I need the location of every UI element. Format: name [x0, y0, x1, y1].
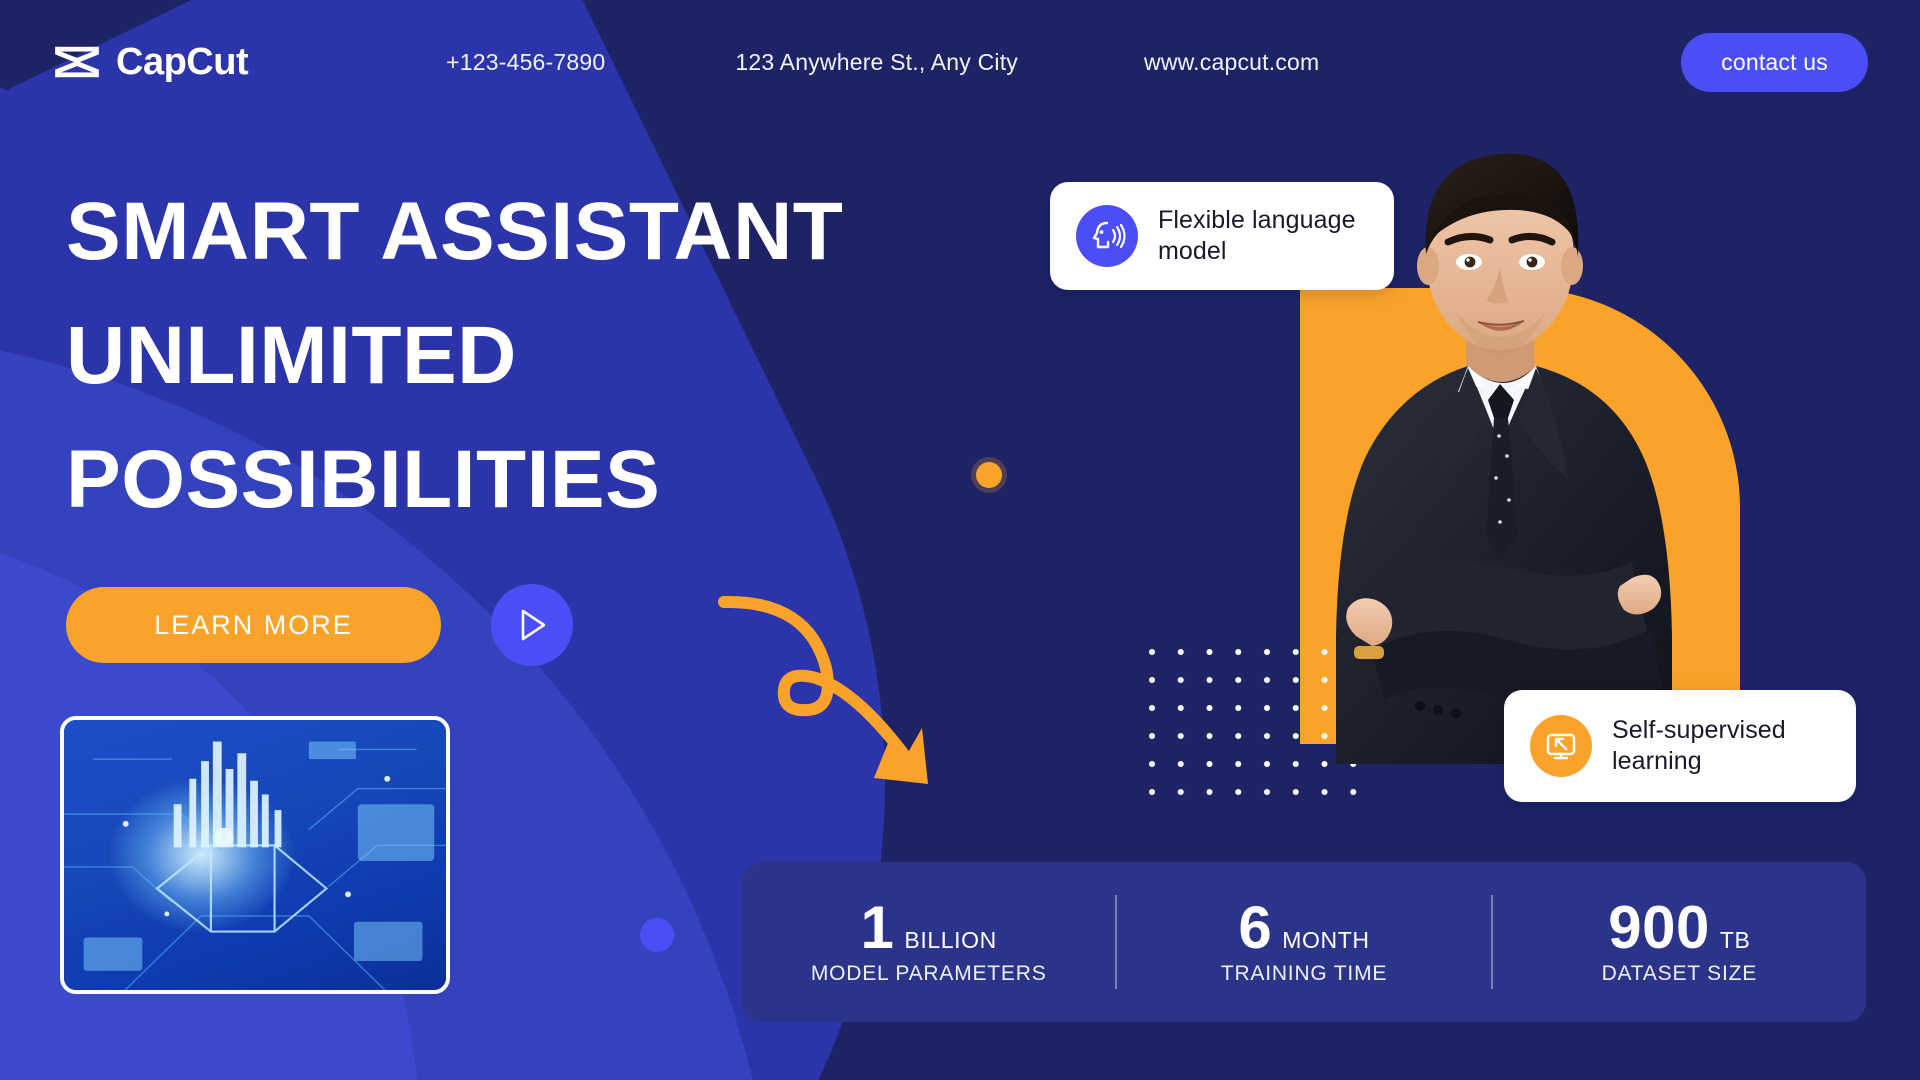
- play-triangle-icon: [514, 606, 550, 644]
- stat-label: MODEL PARAMETERS: [811, 962, 1047, 986]
- feature-card-self-supervised-learning[interactable]: Self-supervised learning: [1504, 690, 1856, 802]
- circuit-city-thumbnail[interactable]: [60, 716, 450, 994]
- stat-top: 1 BILLION: [861, 898, 997, 958]
- header-phone[interactable]: +123-456-7890: [446, 49, 605, 76]
- headline-line-2: UNLIMITED: [66, 294, 843, 418]
- blue-dot-decoration: [640, 918, 674, 952]
- stat-unit: TB: [1720, 927, 1751, 954]
- curved-looped-arrow-icon: [716, 572, 1016, 832]
- stat-value: 1: [861, 898, 895, 958]
- contact-us-button[interactable]: contact us: [1681, 33, 1868, 92]
- speaking-face-icon: [1076, 205, 1138, 267]
- feature-card-label: Self-supervised learning: [1612, 715, 1830, 777]
- play-video-button[interactable]: [491, 584, 573, 666]
- stat-value: 900: [1608, 898, 1710, 958]
- capcut-logo-icon: [52, 43, 102, 81]
- stat-label: DATASET SIZE: [1602, 962, 1757, 986]
- stats-bar: 1 BILLION MODEL PARAMETERS 6 MONTH TRAIN…: [742, 862, 1866, 1022]
- feature-card-label: Flexible language model: [1158, 205, 1368, 267]
- stat-unit: BILLION: [904, 927, 996, 954]
- headline-line-3: POSSIBILITIES: [66, 418, 843, 542]
- header-website[interactable]: www.capcut.com: [1144, 49, 1319, 76]
- learn-more-button[interactable]: LEARN MORE: [66, 587, 441, 663]
- banner-root: CapCut +123-456-7890 123 Anywhere St., A…: [0, 0, 1920, 1080]
- stat-top: 6 MONTH: [1238, 898, 1369, 958]
- brand-logo[interactable]: CapCut: [52, 41, 248, 84]
- header-address: 123 Anywhere St., Any City: [735, 49, 1018, 76]
- stat-value: 6: [1238, 898, 1272, 958]
- stat-label: TRAINING TIME: [1221, 962, 1387, 986]
- stat-unit: MONTH: [1282, 927, 1369, 954]
- stat-model-parameters: 1 BILLION MODEL PARAMETERS: [742, 898, 1115, 986]
- brand-name: CapCut: [116, 41, 248, 84]
- stat-training-time: 6 MONTH TRAINING TIME: [1117, 898, 1490, 986]
- stat-top: 900 TB: [1608, 898, 1750, 958]
- feature-card-flexible-language-model[interactable]: Flexible language model: [1050, 182, 1394, 290]
- orange-dot-decoration: [976, 462, 1002, 488]
- hero-cta-row: LEARN MORE: [66, 584, 573, 666]
- site-header: CapCut +123-456-7890 123 Anywhere St., A…: [0, 0, 1920, 124]
- circuit-trace-lines: [64, 720, 446, 992]
- hero-headline: SMART ASSISTANT UNLIMITED POSSIBILITIES: [66, 170, 843, 542]
- page-title: SMART ASSISTANT: [66, 170, 843, 294]
- monitor-arrow-icon: [1530, 715, 1592, 777]
- stat-dataset-size: 900 TB DATASET SIZE: [1493, 898, 1866, 986]
